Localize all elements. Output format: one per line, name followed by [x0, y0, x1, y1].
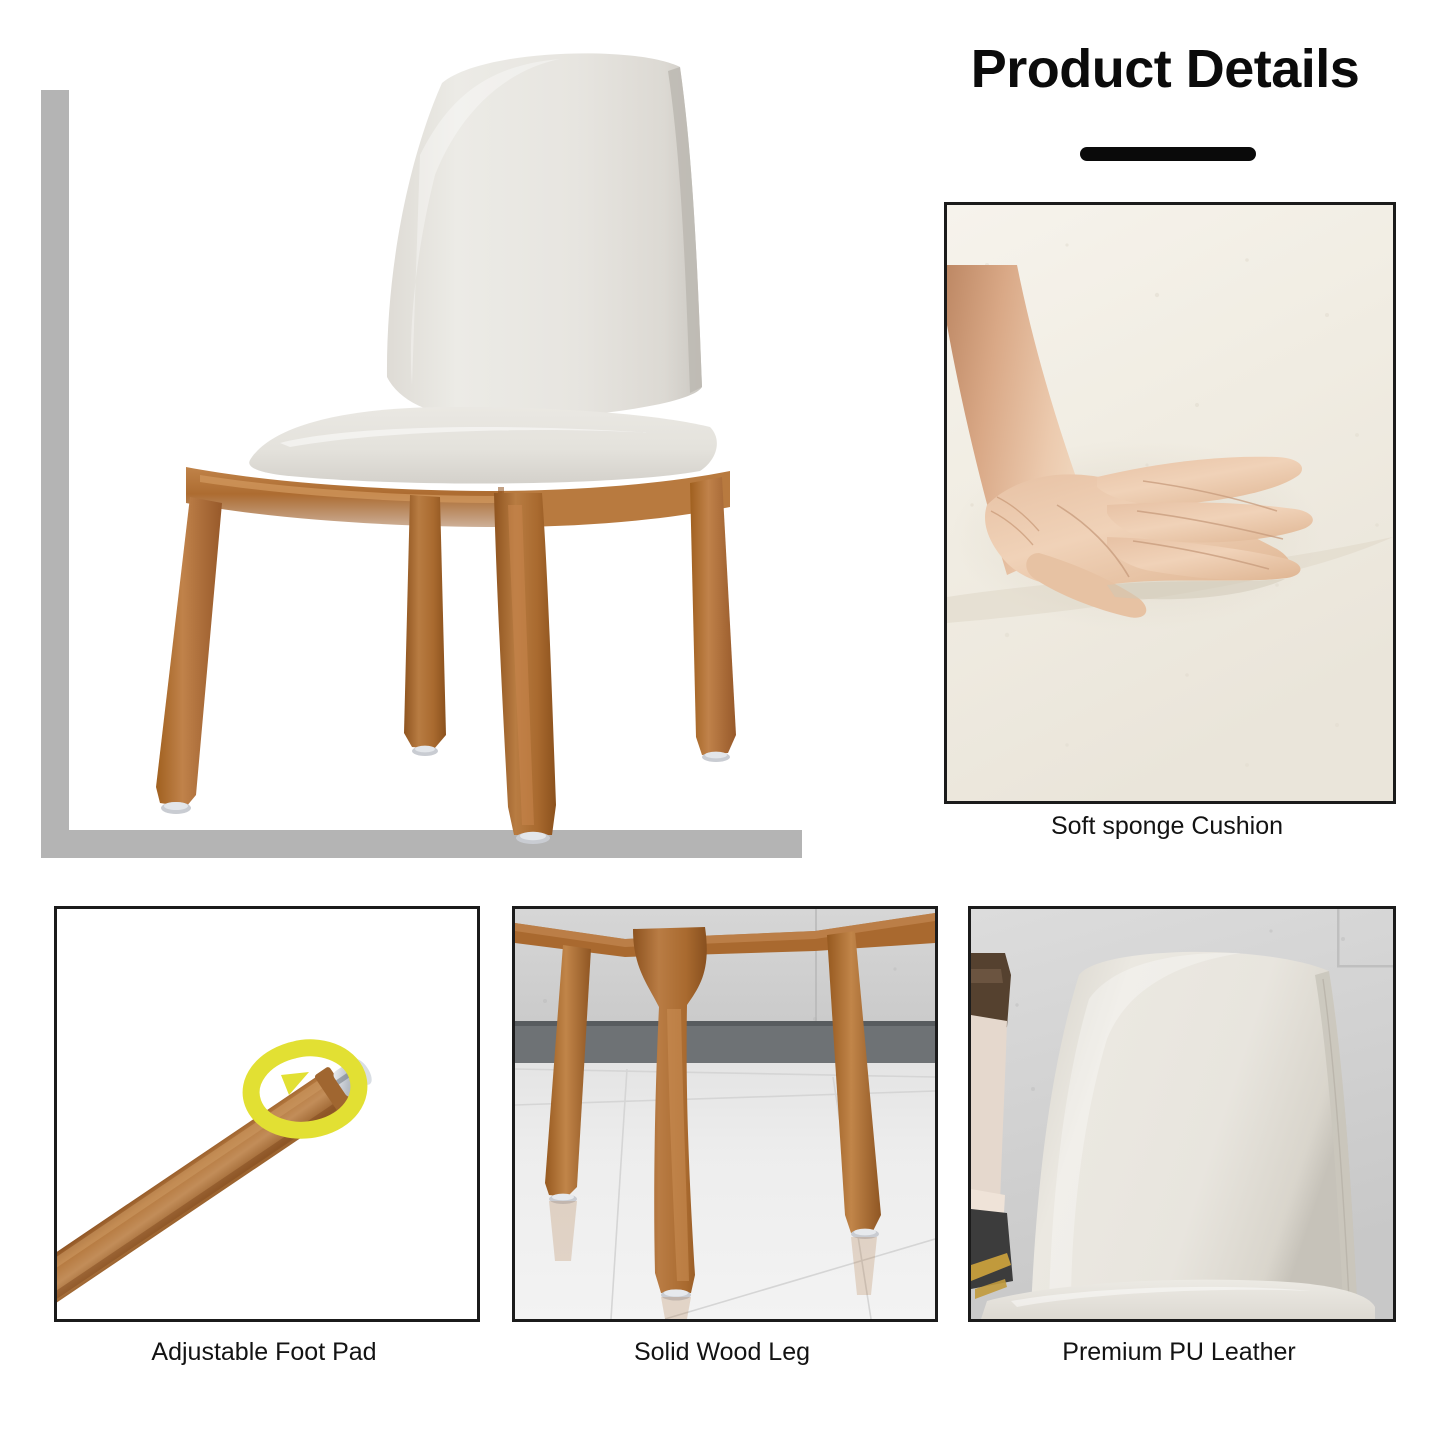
caption-premium-pu-leather: Premium PU Leather	[968, 1338, 1390, 1367]
foot-pad-photo	[57, 909, 477, 1319]
caption-soft-sponge-cushion: Soft sponge Cushion	[944, 812, 1390, 841]
cushion-photo	[947, 205, 1393, 801]
panel-soft-sponge-cushion	[944, 202, 1396, 804]
title-underline-bar	[1080, 147, 1256, 161]
hero-chair-image	[90, 35, 790, 865]
pu-leather-photo	[971, 909, 1393, 1319]
product-details-infographic: Product Details	[0, 0, 1445, 1445]
panel-solid-wood-leg	[512, 906, 938, 1322]
caption-adjustable-foot-pad: Adjustable Foot Pad	[54, 1338, 474, 1367]
decor-bracket-vertical	[41, 90, 69, 858]
caption-solid-wood-leg: Solid Wood Leg	[512, 1338, 932, 1367]
panel-adjustable-foot-pad	[54, 906, 480, 1322]
panel-premium-pu-leather	[968, 906, 1396, 1322]
page-title: Product Details	[940, 38, 1390, 100]
solid-wood-leg-photo	[515, 909, 935, 1319]
